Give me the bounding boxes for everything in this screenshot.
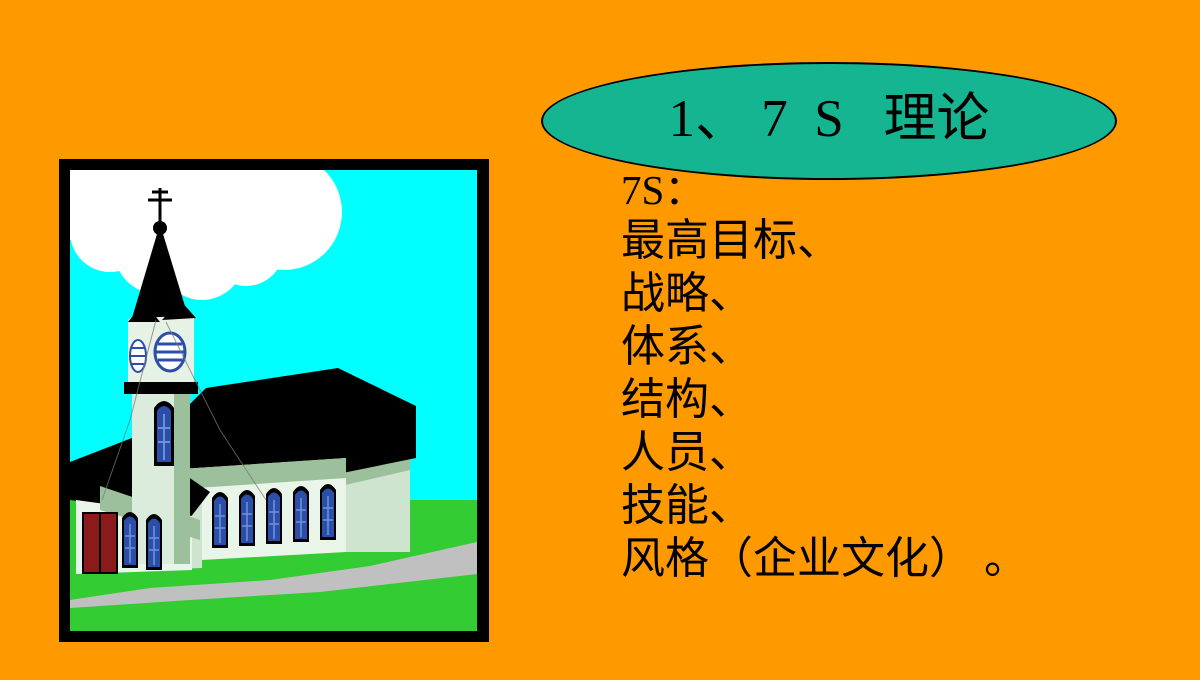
body-item-skills: 技能、: [621, 479, 1181, 532]
slide-canvas: 1、 7 S 理论 7S： 最高目标、 战略、 体系、 结构、 人员、 技能、 …: [0, 0, 1200, 680]
body-label-7s: 7S：: [621, 166, 1181, 214]
title-ellipse: 1、 7 S 理论: [541, 62, 1117, 180]
slide-title: 1、 7 S 理论: [541, 62, 1117, 180]
body-item-strategy: 战略、: [621, 267, 1181, 320]
tower-base-side: [174, 384, 190, 564]
belfry-cornice: [124, 382, 198, 394]
body-item-superordinate-goals: 最高目标、: [621, 214, 1181, 267]
picture-frame: [59, 159, 489, 642]
tower-window: [154, 401, 174, 466]
body-item-staff: 人员、: [621, 426, 1181, 479]
body-item-systems: 体系、: [621, 320, 1181, 373]
church-svg: [70, 170, 477, 631]
body-text-block: 7S： 最高目标、 战略、 体系、 结构、 人员、 技能、 风格（企业文化） 。: [621, 166, 1181, 585]
church-illustration: [70, 170, 477, 631]
body-item-structure: 结构、: [621, 373, 1181, 426]
entrance-door: [82, 512, 118, 574]
body-item-style: 风格（企业文化） 。: [621, 532, 1181, 585]
